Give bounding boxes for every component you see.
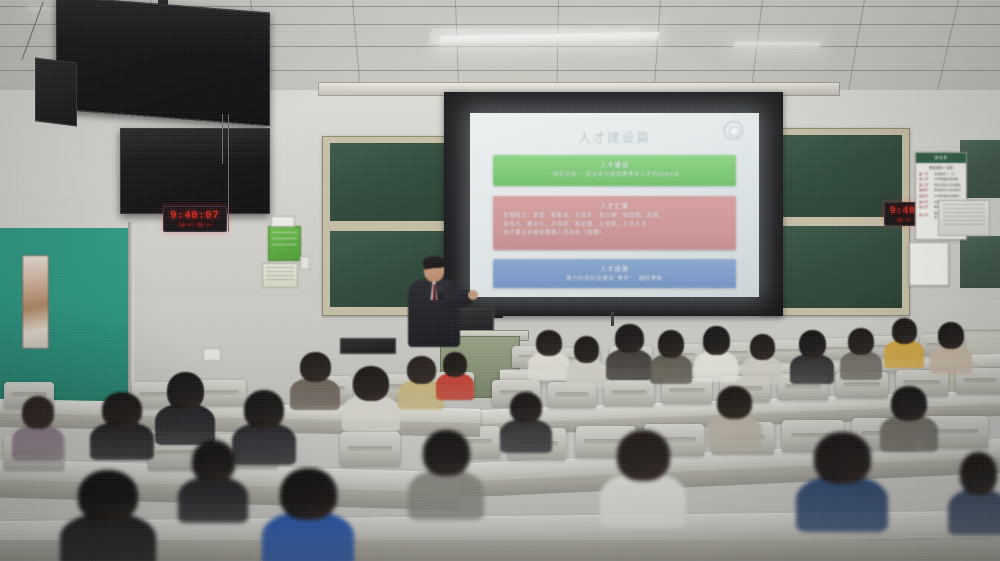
wall-notice-small [271,216,295,227]
audience-person [948,452,1000,532]
audience-person [436,352,474,398]
wall-air-vent [938,200,990,236]
chalkboard-far-right-2 [960,236,1000,288]
slide-section-talent-policy: 人才政策 致力科技队伍建设“青年”，越好更新 [493,259,736,288]
person-head [574,336,599,363]
audience-person [742,334,782,382]
audience-person [408,430,484,516]
person-head [102,392,142,428]
led-clock-left-time: 9:40:07 [164,209,226,223]
audience-person [796,432,888,528]
person-torso [742,356,782,384]
audience-person [566,336,606,386]
slide-section-heading: 人才政策 [499,263,730,273]
person-head [703,326,730,355]
person-head [750,334,775,360]
notice-text: 大学英语综合教程二 [934,194,963,198]
wall-corner-edge [128,222,134,407]
wall-poster-frame [22,255,49,349]
person-torso [12,425,64,461]
person-torso [606,349,652,380]
audience-person [12,396,64,458]
person-torso [706,415,762,451]
notice-text: 大学物理实验基础 [934,177,963,181]
chalkboard-right-upper [766,135,902,217]
seat[interactable] [340,432,400,466]
person-head [510,392,542,423]
notice-text: 线性代数与空间解析 [934,183,963,187]
person-head [536,330,562,356]
person-torso [650,354,692,384]
notice-period: 第二节 [919,177,932,181]
notice-row: 第二节 大学物理实验基础 [916,177,966,181]
audience-person [606,324,652,378]
audience-person [880,386,938,450]
person-torso [528,352,570,380]
person-head [244,390,284,429]
person-torso [290,378,340,410]
chalkboard-right-lower [766,226,902,308]
person-head [938,322,964,349]
ceiling-display-1 [56,0,270,126]
notice-period: 第四节 [919,188,932,192]
projection-screen: 人才建设篇 人才建设 “领军计划”：近五年引进优秀青年人才约5262名 人才汇聚… [444,92,783,316]
audience-person [930,322,972,372]
person-head [717,386,752,419]
audience-person [60,470,156,561]
audience-person [600,430,686,524]
person-torso [408,470,484,520]
person-head [658,330,684,358]
audience-person [262,468,354,561]
audience-person [290,352,340,408]
notice-row: 第五节 大学英语综合教程二 [916,194,966,198]
person-head [353,366,389,401]
person-head [167,372,204,410]
person-torso [600,473,686,528]
audience-person [155,372,215,442]
person-head [300,352,331,382]
slide-title: 人才建设篇 [470,127,759,146]
audience-person [650,330,692,382]
person-head [891,386,927,421]
person-torso [948,489,1000,535]
wall-speaker [35,57,77,126]
led-clock-left-subtext: 温度 28℃ 湿度 55% [164,223,226,228]
person-torso [178,477,248,523]
audience-person [840,328,882,378]
audience-person [342,366,400,430]
notice-period: 第三节 [919,183,932,187]
person-head [848,328,874,355]
person-head [617,430,670,481]
university-seal-logo [724,121,743,140]
projected-slide: 人才建设篇 人才建设 “领军计划”：近五年引进优秀青年人才约5262名 人才汇聚… [470,113,759,297]
wall-outlet[interactable] [203,348,221,361]
audience-person [694,326,738,380]
audience-person [528,330,570,378]
person-torso [500,419,552,453]
lecture-hall-screenshot: 人才建设篇 人才建设 “领军计划”：近五年引进优秀青年人才约5262名 人才汇聚… [0,0,1000,561]
person-torso [840,351,882,380]
person-head [192,440,235,483]
person-head [960,452,997,495]
notice-board-header: 课程表 [916,153,966,163]
seat[interactable] [604,380,654,406]
wall-switch-panel[interactable] [300,256,310,270]
person-head [280,468,337,520]
person-head [814,432,871,484]
person-torso [694,351,738,382]
person-torso [436,373,474,400]
led-clock-left: 9:40:07 温度 28℃ 湿度 55% [163,206,227,232]
person-head [78,470,138,522]
person-torso [884,340,924,368]
notice-text: 思想道德与法治修养 [934,188,963,192]
audience-person [706,386,762,448]
person-torso [930,345,972,374]
slide-section-line: “领军计划”：近五年引进优秀青年人才约5262名 [499,171,730,180]
left-side-wall-panel [0,228,132,403]
person-torso [790,354,834,384]
slide-section-line: 宝钢院士：李莹、陈新滋、计亮年、苏小明、陆钰明、庞锐、 [499,212,730,221]
slide-section-heading: 人才汇聚 [499,200,730,210]
person-head [799,330,826,358]
ceiling-light-panel-2 [733,42,820,49]
person-head [22,396,54,429]
notice-period: 第六节 [919,200,932,204]
person-head [423,430,470,476]
ceiling-cable-1 [222,114,223,164]
person-torso [155,404,215,445]
person-head [892,318,917,344]
notice-board-blank [909,242,949,286]
notice-period: 第一节 [919,172,932,176]
audience-person [90,392,154,458]
slide-section-line: 致力科技队伍建设“青年”，越好更新 [499,275,730,284]
notice-period: 第八节 [919,213,932,217]
wall-paper-notice [262,263,298,288]
notice-row: 第四节 思想道德与法治修养 [916,188,966,192]
person-head [407,356,436,384]
person-head [443,352,467,377]
notice-row: 第三节 线性代数与空间解析 [916,183,966,187]
notice-row: 第一节 高等数学 A（1） [916,172,966,176]
notice-text: 高等数学 A（1） [934,172,963,176]
podium-side-equipment [340,338,396,354]
slide-section-line: 吴伟凡、戴永久；许浩然、陈志勇、王宝玥；人文人才 [499,221,730,230]
notice-board-subtitle: 教室使用一览表 [916,165,966,170]
slide-section-talent-gathering: 人才汇聚 宝钢院士：李莹、陈新滋、计亮年、苏小明、陆钰明、庞锐、 吴伟凡、戴永久… [493,196,736,250]
wall-display-2 [120,128,270,214]
audience-person [178,440,248,520]
person-torso [796,476,888,532]
slide-section-heading: 人才建设 [499,159,730,169]
audience-person [884,318,924,366]
notice-period: 第五节 [919,194,932,198]
audience-person [500,392,552,450]
green-emergency-sign [268,226,301,261]
audience-person [790,330,834,382]
notice-period: 第七节 [919,205,932,209]
person-torso [566,359,606,388]
person-head [615,324,644,353]
ceiling-cable-2 [228,114,229,232]
slide-section-talent-construction: 人才建设 “领军计划”：近五年引进优秀青年人才约5262名 [493,155,736,186]
slide-section-line: 领才重点到省级管理人员队伍（按期） [499,229,730,238]
